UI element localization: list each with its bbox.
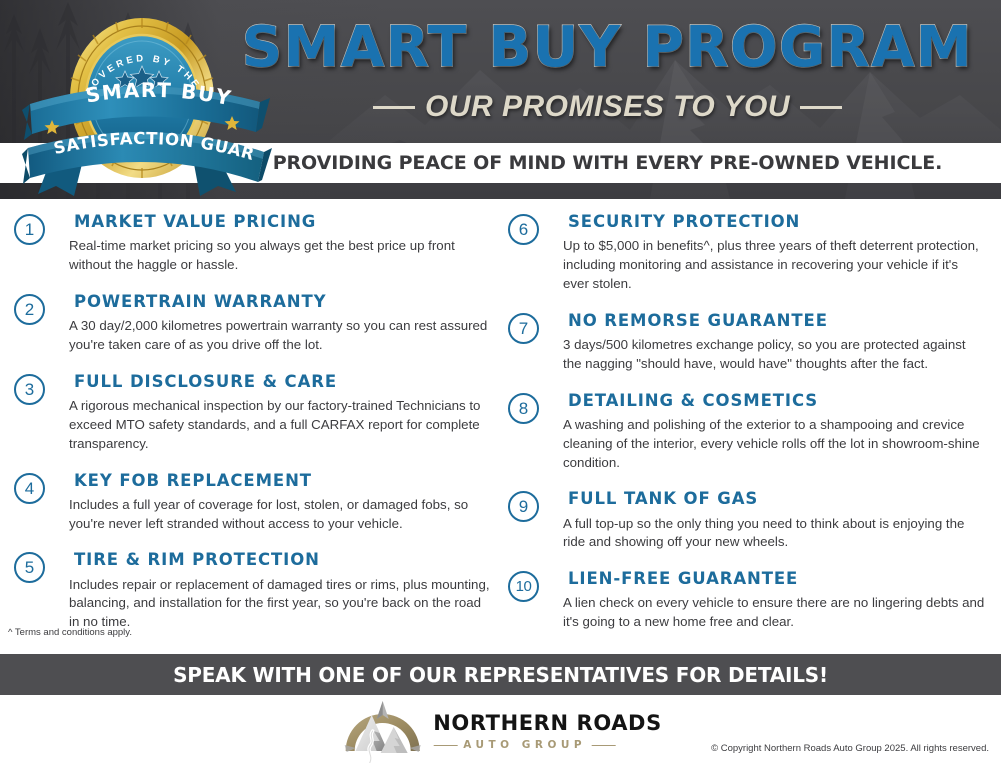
promise-item: 6 SECURITY PROTECTION Up to $5,000 in be…: [508, 213, 986, 294]
promise-item: 10 LIEN-FREE GUARANTEE A lien check on e…: [508, 570, 986, 632]
promise-number-badge: 4: [14, 473, 45, 504]
copyright-text: © Copyright Northern Roads Auto Group 20…: [711, 743, 989, 754]
promise-body: Includes repair or replacement of damage…: [69, 576, 492, 633]
cta-banner: SPEAK WITH ONE OF OUR REPRESENTATIVES FO…: [0, 654, 1001, 695]
promises-column-left: 1 MARKET VALUE PRICING Real-time market …: [14, 209, 492, 650]
promise-number-badge: 1: [14, 214, 45, 245]
promise-title: DETAILING & COSMETICS: [568, 392, 986, 410]
promise-item: 9 FULL TANK OF GAS A full top-up so the …: [508, 490, 986, 552]
logo-rule-right: [592, 745, 616, 747]
promise-item: 4 KEY FOB REPLACEMENT Includes a full ye…: [14, 472, 492, 534]
promise-title: TIRE & RIM PROTECTION: [74, 551, 492, 569]
subtitle-rule-left: [373, 106, 415, 109]
header-subtitle-row: OUR PROMISES TO YOU: [235, 90, 980, 124]
promise-body: A rigorous mechanical inspection by our …: [69, 397, 492, 454]
satisfaction-guarantee-badge-icon: COVERED BY THE SMART BUY: [22, 6, 272, 196]
promise-body: Real-time market pricing so you always g…: [69, 237, 492, 275]
page-title: SMART BUY PROGRAM: [235, 20, 980, 76]
header-title-block: SMART BUY PROGRAM OUR PROMISES TO YOU: [235, 20, 980, 124]
promise-title: LIEN-FREE GUARANTEE: [568, 570, 986, 588]
mountain-compass-logo-icon: [339, 701, 425, 763]
smart-buy-program-page: SMART BUY PROGRAM OUR PROMISES TO YOU PR…: [0, 0, 1001, 768]
cta-text: SPEAK WITH ONE OF OUR REPRESENTATIVES FO…: [173, 663, 828, 687]
promise-title: POWERTRAIN WARRANTY: [74, 293, 492, 311]
promise-number-badge: 2: [14, 294, 45, 325]
promise-number-badge: 5: [14, 552, 45, 583]
terms-note: ^ Terms and conditions apply.: [8, 627, 132, 638]
logo-company-sub: AUTO GROUP: [463, 740, 586, 751]
logo-subtitle-row: AUTO GROUP: [433, 740, 662, 751]
promise-title: FULL DISCLOSURE & CARE: [74, 373, 492, 391]
subtitle-rule-right: [800, 106, 842, 109]
promise-item: 5 TIRE & RIM PROTECTION Includes repair …: [14, 551, 492, 632]
promise-number-badge: 7: [508, 313, 539, 344]
promise-item: 1 MARKET VALUE PRICING Real-time market …: [14, 213, 492, 275]
promise-item: 8 DETAILING & COSMETICS A washing and po…: [508, 392, 986, 473]
page-subtitle: OUR PROMISES TO YOU: [425, 90, 790, 124]
promise-number-badge: 6: [508, 214, 539, 245]
logo-rule-left: [433, 745, 457, 747]
promises-column-right: 6 SECURITY PROTECTION Up to $5,000 in be…: [508, 209, 986, 650]
promise-body: 3 days/500 kilometres exchange policy, s…: [563, 336, 986, 374]
logo-company-name: NORTHERN ROADS: [433, 713, 662, 734]
promise-number-badge: 3: [14, 374, 45, 405]
promise-body: A full top-up so the only thing you need…: [563, 515, 986, 553]
promise-body: A lien check on every vehicle to ensure …: [563, 594, 986, 632]
promise-title: KEY FOB REPLACEMENT: [74, 472, 492, 490]
promise-body: Up to $5,000 in benefits^, plus three ye…: [563, 237, 986, 294]
promise-number-badge: 10: [508, 571, 539, 602]
promise-title: NO REMORSE GUARANTEE: [568, 312, 986, 330]
promise-body: Includes a full year of coverage for los…: [69, 496, 492, 534]
promises-section: 1 MARKET VALUE PRICING Real-time market …: [0, 199, 1001, 654]
promise-number-badge: 8: [508, 393, 539, 424]
promise-title: SECURITY PROTECTION: [568, 213, 986, 231]
promise-number-badge: 9: [508, 491, 539, 522]
promise-title: FULL TANK OF GAS: [568, 490, 986, 508]
promise-item: 2 POWERTRAIN WARRANTY A 30 day/2,000 kil…: [14, 293, 492, 355]
page-footer: NORTHERN ROADS AUTO GROUP © Copyright No…: [0, 695, 1001, 768]
promise-item: 7 NO REMORSE GUARANTEE 3 days/500 kilome…: [508, 312, 986, 374]
promise-body: A washing and polishing of the exterior …: [563, 416, 986, 473]
logo-text-block: NORTHERN ROADS AUTO GROUP: [433, 713, 662, 751]
tagline-text: PROVIDING PEACE OF MIND WITH EVERY PRE-O…: [235, 152, 980, 174]
promise-body: A 30 day/2,000 kilometres powertrain war…: [69, 317, 492, 355]
promise-title: MARKET VALUE PRICING: [74, 213, 492, 231]
brand-logo: NORTHERN ROADS AUTO GROUP: [339, 701, 662, 763]
promise-item: 3 FULL DISCLOSURE & CARE A rigorous mech…: [14, 373, 492, 454]
